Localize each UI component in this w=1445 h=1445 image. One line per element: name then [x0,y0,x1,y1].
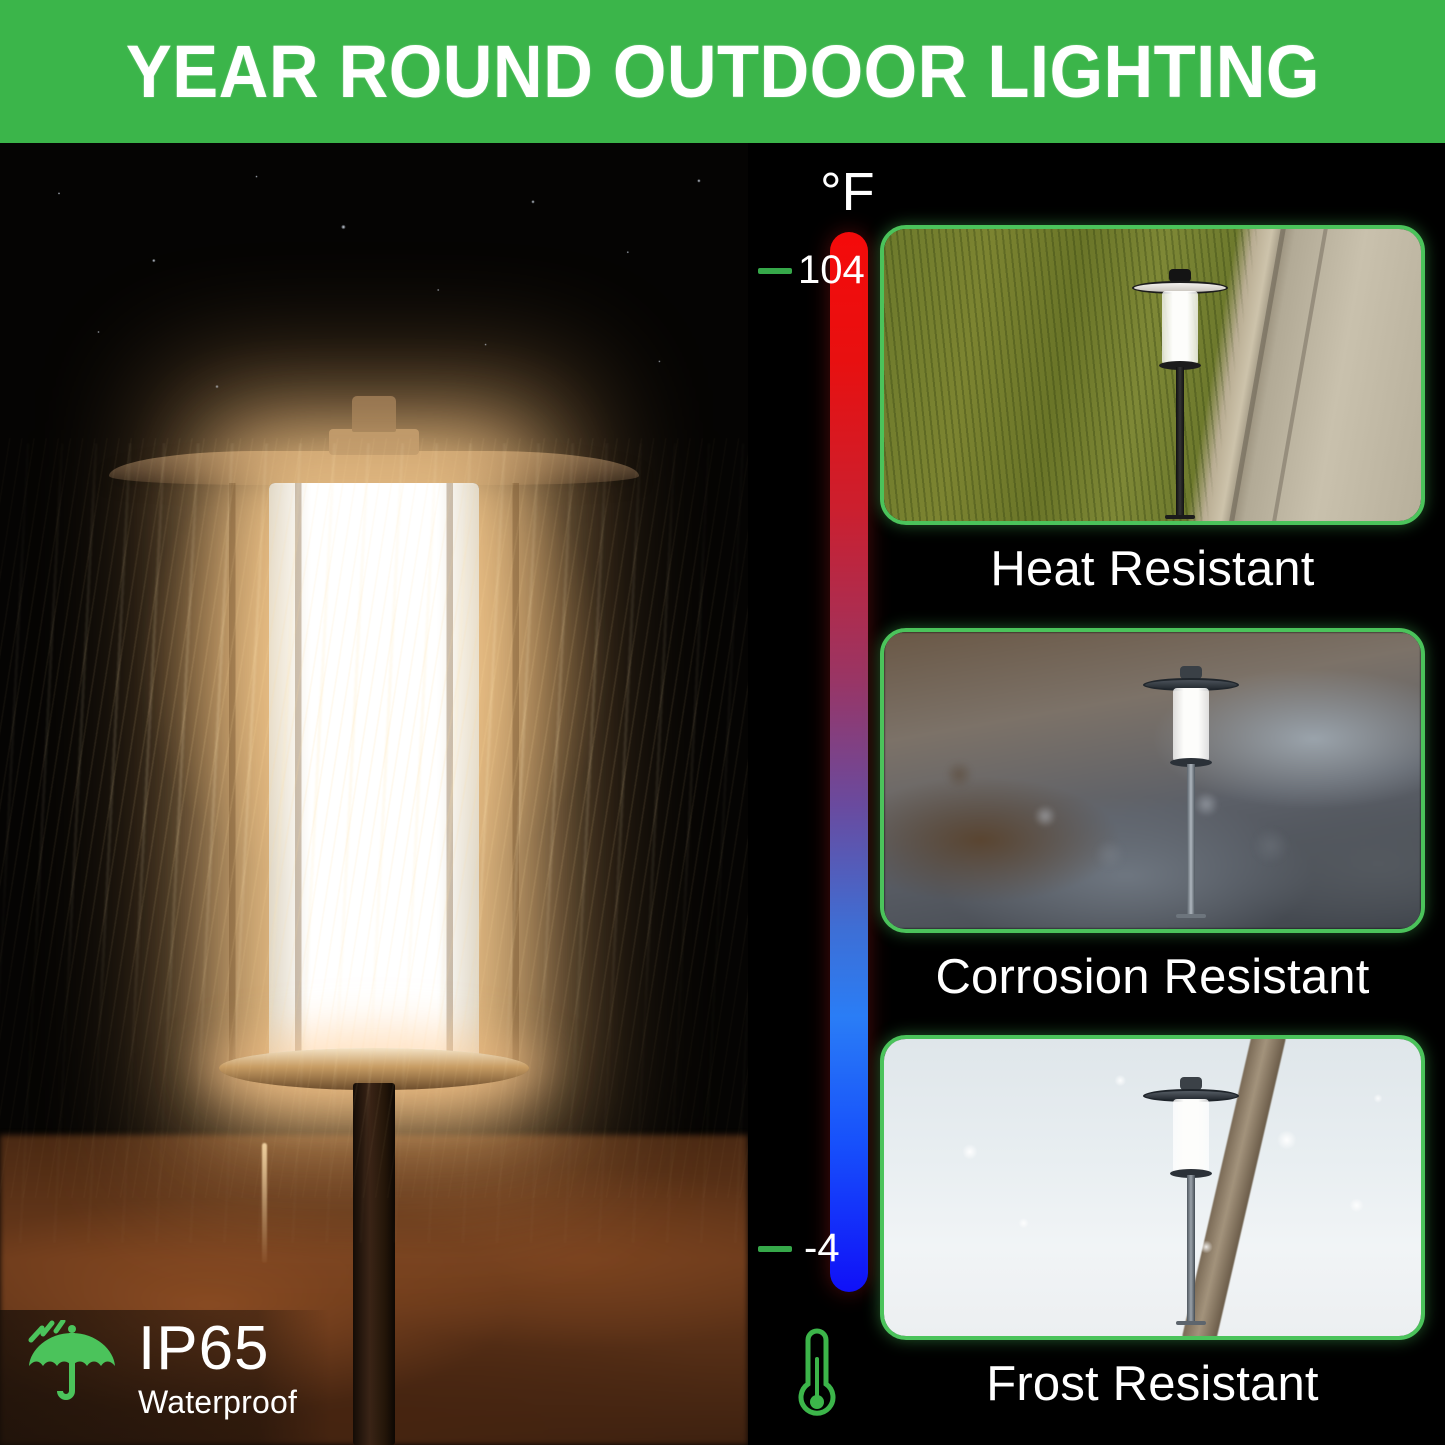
content-area: IP65 Waterproof °F 104 -4 [0,143,1445,1445]
feature-image-frost [880,1035,1425,1340]
tick-mark-high [758,268,792,274]
ip65-rating: IP65 [138,1318,297,1380]
water-drip [262,1143,267,1263]
feature-caption-corrosion: Corrosion Resistant [880,949,1425,1005]
temperature-scale: °F 104 -4 [748,143,880,1445]
thermometer-icon [796,1325,838,1427]
temperature-unit-label: °F [820,165,875,219]
temperature-gradient-bar [830,232,868,1292]
hero-rain-photo: IP65 Waterproof [0,143,748,1445]
product-lamp-heat [1120,269,1240,519]
hero-lamp-neck [329,429,419,455]
lamp-stake [1165,515,1195,519]
hero-lamp-cap [352,396,396,432]
hero-lamp-shade [109,451,639,485]
lamp-glass [1173,688,1209,762]
hero-lamp-post [353,1083,395,1445]
feature-image-corrosion [880,628,1425,933]
ip65-subtitle: Waterproof [138,1386,297,1418]
product-lamp-corrosion [1131,666,1251,921]
temperature-low-label: -4 [804,1228,840,1268]
hero-lamp-bars [209,483,539,1065]
feature-caption-heat: Heat Resistant [880,541,1425,597]
lamp-pole [1187,764,1195,916]
lamp-stake [1176,914,1206,918]
feature-panel-corrosion[interactable]: Corrosion Resistant [880,628,1425,1005]
lamp-glass [1162,291,1198,365]
banner-title: YEAR ROUND OUTDOOR LIGHTING [126,29,1320,114]
ip65-badge: IP65 Waterproof [22,1318,297,1418]
scene-snowflakes [884,1039,1421,1336]
lamp-pole [1176,367,1184,517]
feature-image-heat [880,225,1425,525]
tick-mark-low [758,1246,792,1252]
umbrella-icon [22,1320,122,1416]
header-banner: YEAR ROUND OUTDOOR LIGHTING [0,0,1445,143]
feature-caption-frost: Frost Resistant [880,1356,1425,1412]
feature-panel-list: Heat Resistant Corrosion Resistant [880,143,1445,1445]
feature-panel-frost[interactable]: Frost Resistant [880,1035,1425,1412]
feature-panel-heat[interactable]: Heat Resistant [880,225,1425,597]
temperature-high-label: 104 [798,250,865,290]
